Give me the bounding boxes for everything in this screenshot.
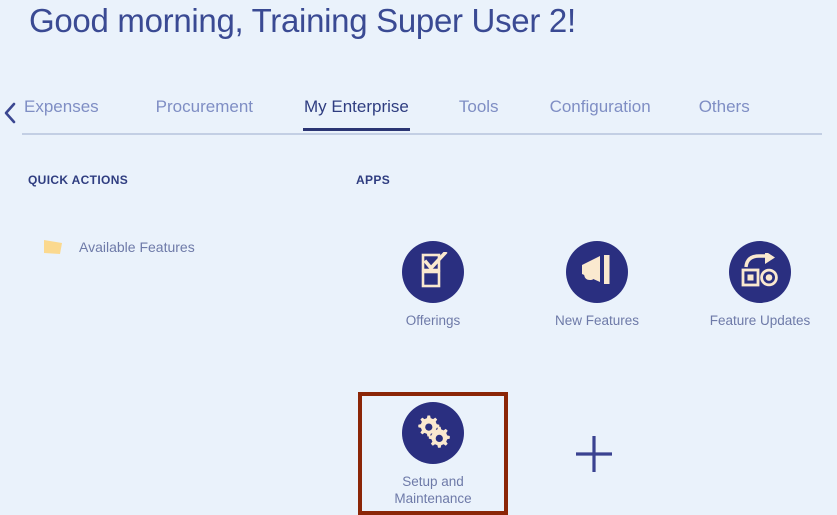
tab-label: Procurement xyxy=(156,97,253,116)
app-label: Feature Updates xyxy=(710,312,811,329)
feature-updates-icon xyxy=(741,253,779,292)
app-label: Setup and Maintenance xyxy=(394,473,471,507)
tab-expenses[interactable]: Expenses xyxy=(24,92,99,131)
quick-action-available-features[interactable]: Available Features xyxy=(36,232,195,262)
gears-icon xyxy=(414,413,452,454)
app-label: New Features xyxy=(555,312,639,329)
app-tile-offerings[interactable]: Offerings xyxy=(373,241,493,329)
app-icon-background xyxy=(402,241,464,303)
tab-configuration[interactable]: Configuration xyxy=(550,92,651,131)
add-app-button[interactable] xyxy=(557,419,631,493)
app-icon-background xyxy=(566,241,628,303)
app-tile-feature-updates[interactable]: Feature Updates xyxy=(700,241,820,329)
app-tile-setup-and-maintenance[interactable]: Setup and Maintenance xyxy=(373,402,493,507)
page-title: Good morning, Training Super User 2! xyxy=(29,2,576,40)
tab-my-enterprise[interactable]: My Enterprise xyxy=(304,92,409,131)
tab-label: Expenses xyxy=(24,97,99,116)
quick-action-label: Available Features xyxy=(79,239,195,255)
tab-label: Tools xyxy=(459,97,499,116)
flag-icon xyxy=(36,232,68,262)
chevron-left-icon[interactable] xyxy=(1,99,19,127)
app-icon-background xyxy=(729,241,791,303)
tab-label: Configuration xyxy=(550,97,651,116)
plus-icon xyxy=(572,432,616,481)
checklist-icon xyxy=(416,252,450,293)
tab-others[interactable]: Others xyxy=(699,92,750,131)
apps-heading: APPS xyxy=(356,173,390,187)
navigation-tabbar: Expenses Procurement My Enterprise Tools… xyxy=(0,92,837,142)
tab-label: My Enterprise xyxy=(304,97,409,116)
megaphone-icon xyxy=(578,254,616,291)
app-label: Offerings xyxy=(406,312,461,329)
quick-actions-heading: QUICK ACTIONS xyxy=(28,173,128,187)
tab-procurement[interactable]: Procurement xyxy=(156,92,253,131)
tab-tools[interactable]: Tools xyxy=(459,92,499,131)
app-icon-background xyxy=(402,402,464,464)
tab-label: Others xyxy=(699,97,750,116)
tabbar-rule xyxy=(22,133,822,135)
app-tile-new-features[interactable]: New Features xyxy=(537,241,657,329)
